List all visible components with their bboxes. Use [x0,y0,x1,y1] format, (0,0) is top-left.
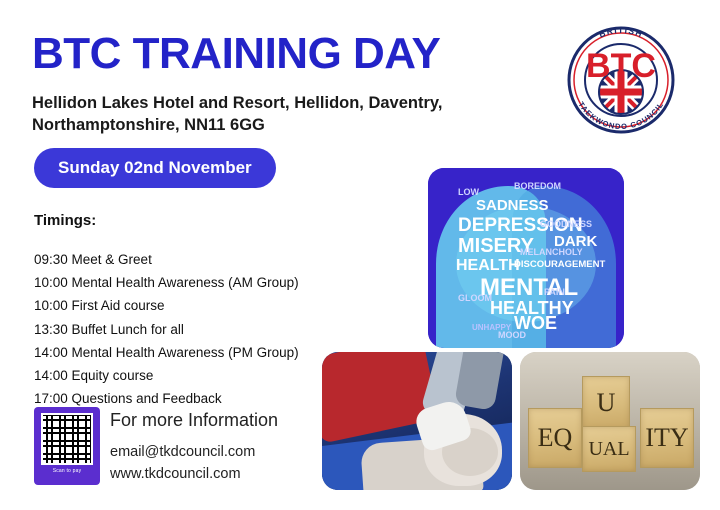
equity-blocks-image: EQ U ITY UAL [520,352,700,490]
qr-code[interactable]: Scan to pay [34,407,100,485]
contact-heading: For more Information [110,410,278,431]
list-item: 10:00 First Aid course [34,294,299,317]
wordcloud-word: PAIN [544,288,565,297]
equity-block-eq: EQ [528,408,582,468]
wordcloud-word: DISCOURAGEMENT [514,260,605,270]
mental-health-wordcloud-image: SADNESSDEPRESSIONMISERYDARKHEALTHDISCOUR… [428,168,624,348]
equity-block-ual: UAL [582,426,636,472]
venue-address: Hellidon Lakes Hotel and Resort, Hellido… [32,92,472,137]
logo-monogram: BTC [586,47,656,85]
contact-details: email@tkdcouncil.com www.tkdcouncil.com [110,441,255,486]
list-item: 10:00 Mental Health Awareness (AM Group) [34,271,299,294]
qr-caption: Scan to pay [34,468,100,474]
list-item: 09:30 Meet & Greet [34,248,299,271]
wordcloud-word: MELANCHOLY [520,248,583,257]
first-aid-cpr-image [322,352,512,490]
address-line-1: Hellidon Lakes Hotel and Resort, Hellido… [32,92,472,114]
qr-code-pattern [41,413,93,465]
page-title: BTC TRAINING DAY [32,32,440,76]
btc-logo: BTC BRITISH TAEKWONDO COUNCIL [556,22,686,134]
wordcloud-word: BOREDOM [514,182,561,191]
wordcloud-word: SADNESS [476,198,549,213]
contact-email[interactable]: email@tkdcouncil.com [110,441,255,463]
equity-block-ity: ITY [640,408,694,468]
wordcloud-word: LOW [458,188,479,197]
timings-heading: Timings: [34,212,96,229]
contact-website[interactable]: www.tkdcouncil.com [110,463,255,485]
wordcloud-word: UNHAPPY [472,324,511,332]
event-date-badge: Sunday 02nd November [34,148,276,188]
list-item: 14:00 Equity course [34,364,299,387]
timings-list: 09:30 Meet & Greet 10:00 Mental Health A… [34,248,299,411]
wordcloud-word: GLOOM [458,294,492,303]
wordcloud-word: MOOD [498,331,526,340]
list-item: 14:00 Mental Health Awareness (PM Group) [34,341,299,364]
wordcloud-word: HEALTH [456,258,520,274]
poster: BTC TRAINING DAY Hellidon Lakes Hotel an… [0,0,720,510]
address-line-2: Northamptonshire, NN11 6GG [32,114,472,136]
equity-block-u: U [582,376,630,430]
list-item: 13:30 Buffet Lunch for all [34,318,299,341]
wordcloud-word: GOODNESS [540,220,592,229]
